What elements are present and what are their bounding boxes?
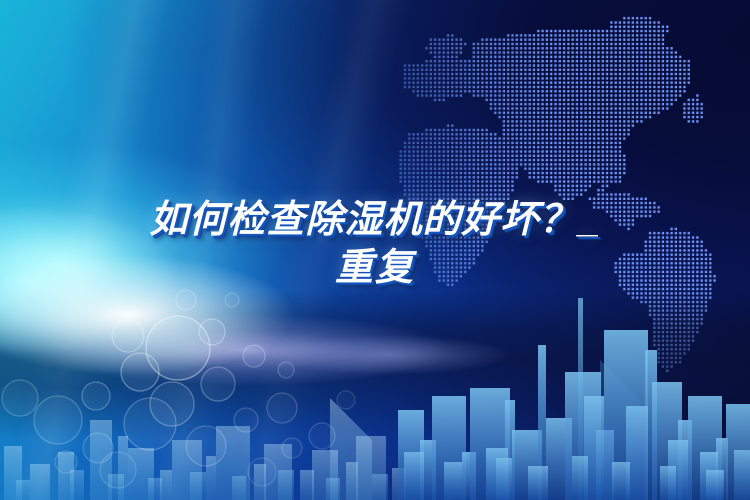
banner-image: 如何检查除湿机的好坏？_ 重复	[0, 0, 750, 500]
title-line-2: 重复	[0, 244, 750, 292]
banner-title: 如何检查除湿机的好坏？_ 重复	[0, 196, 750, 292]
title-line-1: 如何检查除湿机的好坏？_	[0, 196, 750, 244]
